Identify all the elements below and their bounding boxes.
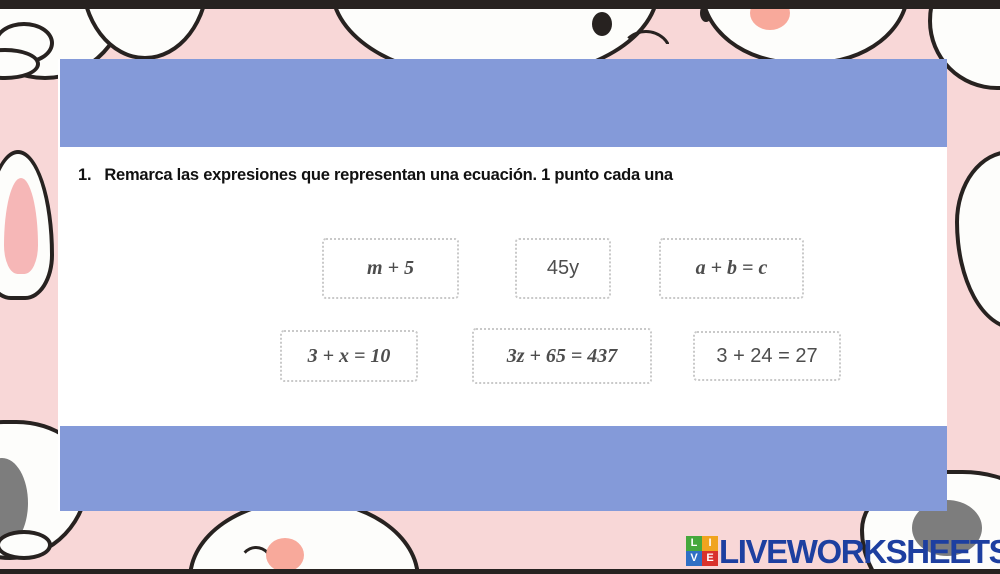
liveworksheets-cube-icon: L I V E xyxy=(686,536,718,566)
bunny-blush-icon xyxy=(266,538,304,572)
bunny-eye-icon xyxy=(592,12,612,36)
expression-box[interactable]: a + b = c xyxy=(659,238,804,299)
expression-label: a + b = c xyxy=(696,257,768,280)
expression-label: 3 + 24 = 27 xyxy=(716,345,817,368)
wallpaper-top-edge xyxy=(0,0,1000,9)
screenshot-root: 1. Remarca las expresiones que represent… xyxy=(0,0,1000,574)
expression-box[interactable]: 3 + x = 10 xyxy=(280,330,418,382)
logo-wordmark: LIVEWORKSHEETS xyxy=(719,535,1000,568)
expression-label: 3 + x = 10 xyxy=(308,345,391,368)
liveworksheets-logo[interactable]: L I V E LIVEWORKSHEETS xyxy=(686,531,1000,571)
cube-letter-i: I xyxy=(702,536,718,551)
header-band xyxy=(60,59,947,147)
cube-letter-v: V xyxy=(686,551,702,566)
bunny-decoration xyxy=(955,150,1000,330)
footer-band xyxy=(60,426,947,511)
expression-box[interactable]: 3 + 24 = 27 xyxy=(693,331,841,381)
question-text: Remarca las expresiones que representan … xyxy=(104,166,672,185)
question-number: 1. xyxy=(78,166,91,185)
expression-box[interactable]: 3z + 65 = 437 xyxy=(472,328,652,384)
bunny-paw-icon xyxy=(0,530,52,560)
expression-label: m + 5 xyxy=(367,257,414,280)
expression-box[interactable]: 45y xyxy=(515,238,611,299)
cube-letter-l: L xyxy=(686,536,702,551)
expression-label: 45y xyxy=(547,257,579,280)
expression-label: 3z + 65 = 437 xyxy=(507,345,618,368)
bunny-decoration xyxy=(700,0,910,65)
question-heading: 1. Remarca las expresiones que represent… xyxy=(78,166,673,185)
worksheet-card: 1. Remarca las expresiones que represent… xyxy=(58,59,947,511)
expression-box[interactable]: m + 5 xyxy=(322,238,459,299)
cube-letter-e: E xyxy=(702,551,718,566)
